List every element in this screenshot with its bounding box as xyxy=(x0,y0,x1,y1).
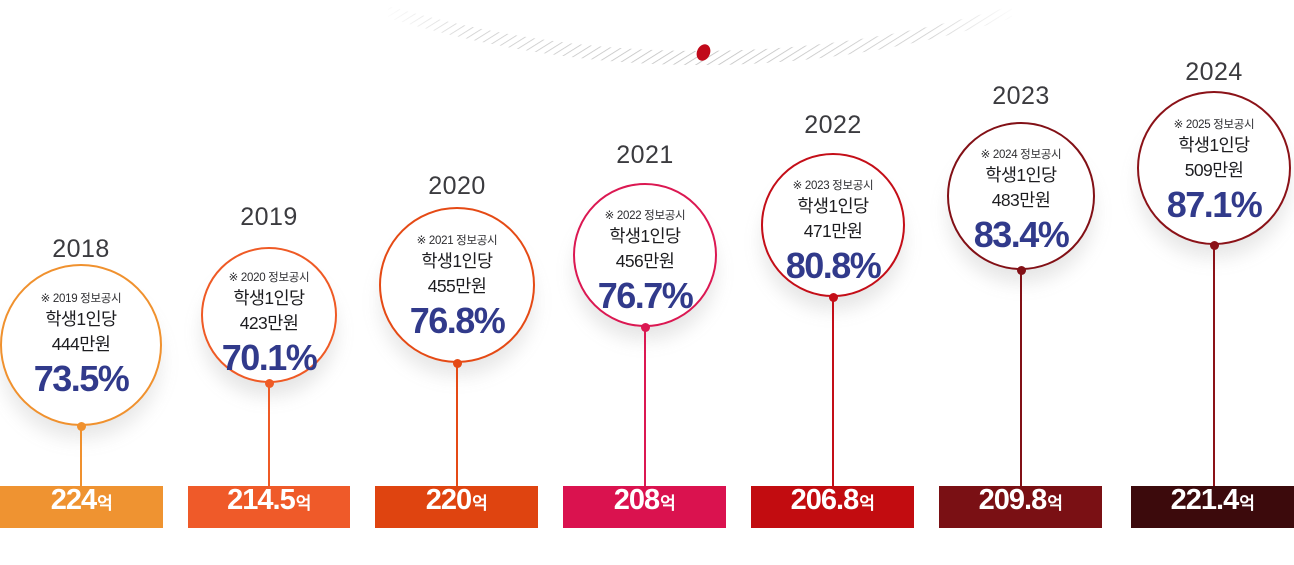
scholarship-infographic: 2018※ 2019 정보공시학생1인당444만원73.5%224억2019※ … xyxy=(0,0,1294,565)
connector-line xyxy=(1213,247,1215,486)
per-student-label: 학생1인당 xyxy=(1178,132,1249,157)
bar-value: 221.4 xyxy=(1171,486,1239,515)
coverage-percent: 87.1% xyxy=(1167,184,1262,226)
total-amount-bar[interactable]: 221.4억 xyxy=(1131,486,1294,528)
bubble-source-note: ※ 2025 정보공시 xyxy=(1174,116,1255,132)
per-student-value: 509만원 xyxy=(1185,157,1243,182)
year-column: 2024※ 2025 정보공시학생1인당509만원87.1%221.4억 xyxy=(0,0,1294,565)
year-label: 2024 xyxy=(1134,58,1294,87)
bar-unit: 억 xyxy=(1239,495,1254,512)
stat-bubble[interactable]: ※ 2025 정보공시학생1인당509만원87.1% xyxy=(1137,91,1291,245)
